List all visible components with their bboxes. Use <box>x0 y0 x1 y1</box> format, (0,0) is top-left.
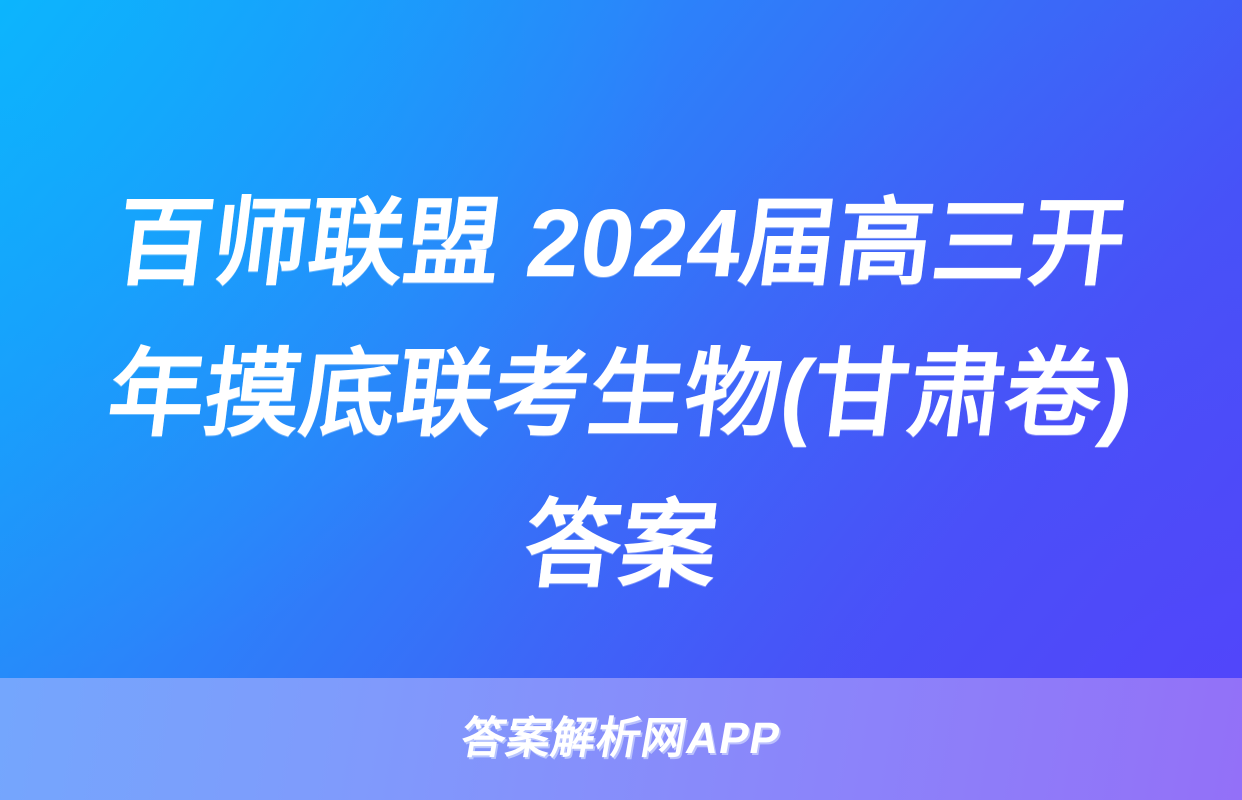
title-line-2: 年摸底联考生物(甘肃卷) <box>66 319 1177 470</box>
title-line-1: 百师联盟 2024届高三开 <box>66 168 1177 319</box>
watermark-label: 答案解析网APP <box>458 717 784 761</box>
page-title: 百师联盟 2024届高三开 年摸底联考生物(甘肃卷) 答案 <box>75 168 1167 621</box>
watermark-band: 答案解析网APP <box>0 678 1242 800</box>
cover-canvas: 百师联盟 2024届高三开 年摸底联考生物(甘肃卷) 答案 答案解析网APP <box>0 0 1242 800</box>
title-line-3: 答案 <box>66 470 1177 621</box>
